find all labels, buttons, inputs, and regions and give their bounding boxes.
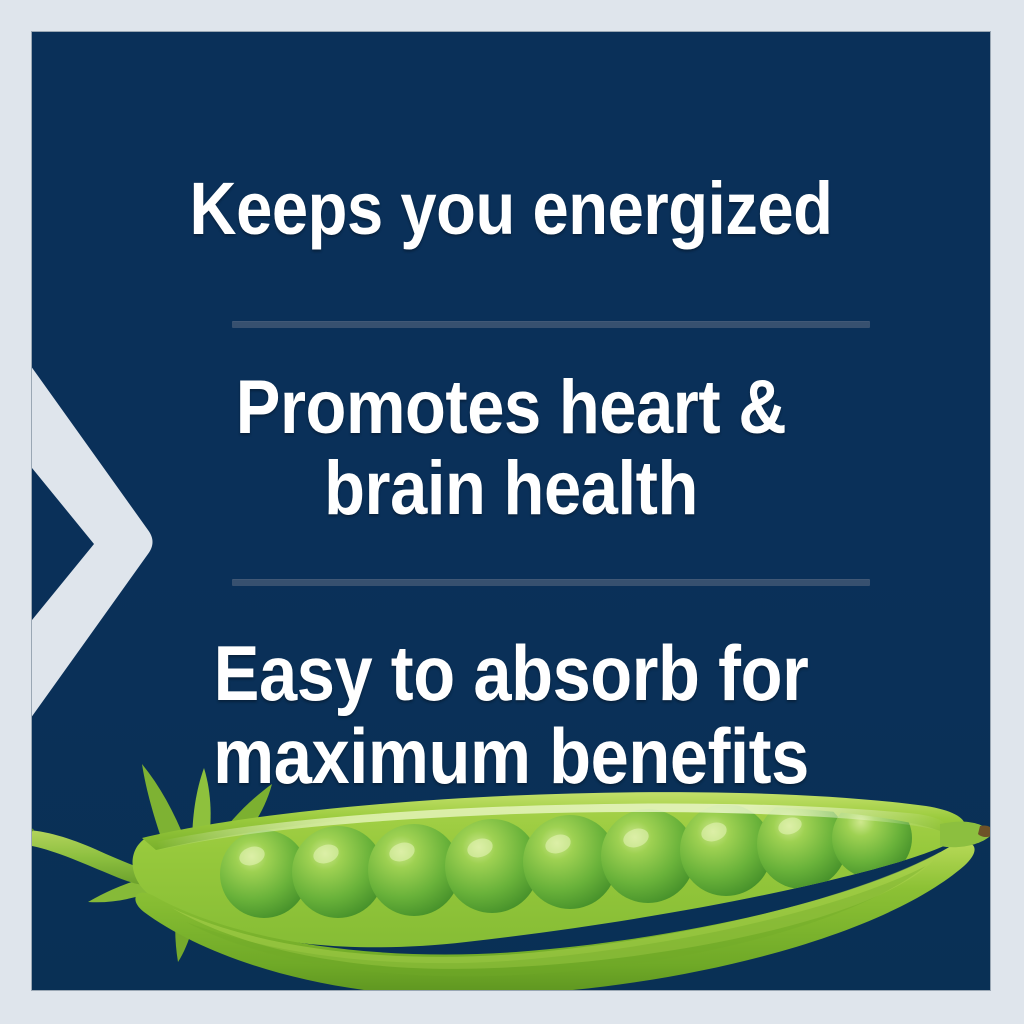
- benefit-text-energy: Keeps you energized: [89, 170, 932, 248]
- ad-canvas: Keeps you energized Promotes heart & bra…: [0, 0, 1024, 1024]
- divider-rule-1: [232, 321, 870, 328]
- benefit-text-heart-brain: Promotes heart & brain health: [89, 368, 932, 529]
- divider-rule-2: [232, 579, 870, 586]
- pea-pod-body: [133, 792, 990, 990]
- pea-pod-photo: [32, 746, 990, 990]
- navy-panel: Keeps you energized Promotes heart & bra…: [32, 32, 990, 990]
